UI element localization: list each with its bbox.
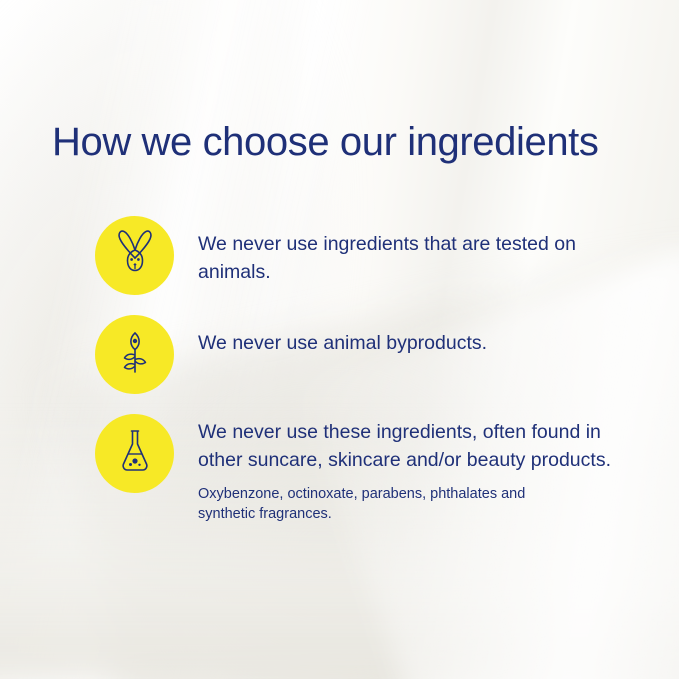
icon-badge-rabbit [95, 216, 174, 295]
list-item-main-text: We never use these ingredients, often fo… [198, 418, 618, 475]
list-item: We never use these ingredients, often fo… [95, 414, 635, 525]
list-item-text: We never use these ingredients, often fo… [198, 414, 618, 525]
flask-icon [115, 426, 155, 481]
list-item-text: We never use ingredients that are tested… [198, 216, 618, 287]
list-item: We never use ingredients that are tested… [95, 216, 635, 295]
list-item: We never use animal byproducts. [95, 315, 635, 394]
list-item-text: We never use animal byproducts. [198, 315, 487, 357]
ingredients-infographic: How we choose our ingredients [0, 0, 679, 679]
leaf-plant-icon [114, 327, 156, 382]
page-title: How we choose our ingredients [52, 120, 599, 165]
benefit-list: We never use ingredients that are tested… [95, 216, 635, 525]
list-item-main-text: We never use ingredients that are tested… [198, 230, 618, 287]
list-item-main-text: We never use animal byproducts. [198, 329, 487, 357]
icon-badge-plant [95, 315, 174, 394]
list-item-sub-text: Oxybenzone, octinoxate, parabens, phthal… [198, 484, 578, 525]
icon-badge-flask [95, 414, 174, 493]
rabbit-icon [113, 228, 157, 283]
